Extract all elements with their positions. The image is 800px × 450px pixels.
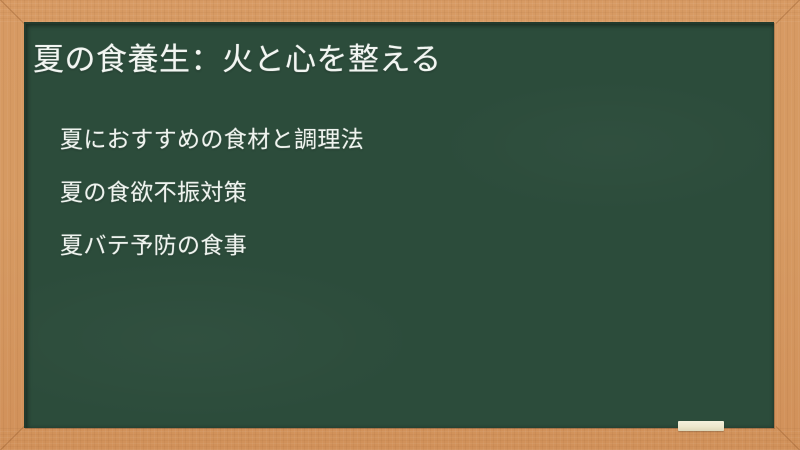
chalkboard-content: 夏の食養生：火と心を整える 夏におすすめの食材と調理法 夏の食欲不振対策 夏バテ…: [26, 24, 774, 428]
slide-title: 夏の食養生：火と心を整える: [33, 41, 442, 80]
bullet-list: 夏におすすめの食材と調理法 夏の食欲不振対策 夏バテ予防の食事: [60, 127, 364, 260]
chalk-stick-icon: [678, 421, 724, 431]
frame-miter-top-left: [0, 0, 24, 24]
list-item: 夏バテ予防の食事: [60, 233, 364, 260]
frame-top-rail: [0, 0, 800, 22]
chalkboard-surface: 夏の食養生：火と心を整える 夏におすすめの食材と調理法 夏の食欲不振対策 夏バテ…: [24, 22, 774, 428]
chalkboard-slide: 夏の食養生：火と心を整える 夏におすすめの食材と調理法 夏の食欲不振対策 夏バテ…: [0, 0, 800, 450]
frame-bottom-rail: [0, 428, 800, 450]
list-item: 夏の食欲不振対策: [60, 180, 364, 207]
frame-miter-bottom-right: [776, 426, 800, 450]
frame-miter-top-right: [776, 0, 800, 24]
frame-miter-bottom-left: [0, 426, 24, 450]
list-item: 夏におすすめの食材と調理法: [60, 127, 364, 154]
